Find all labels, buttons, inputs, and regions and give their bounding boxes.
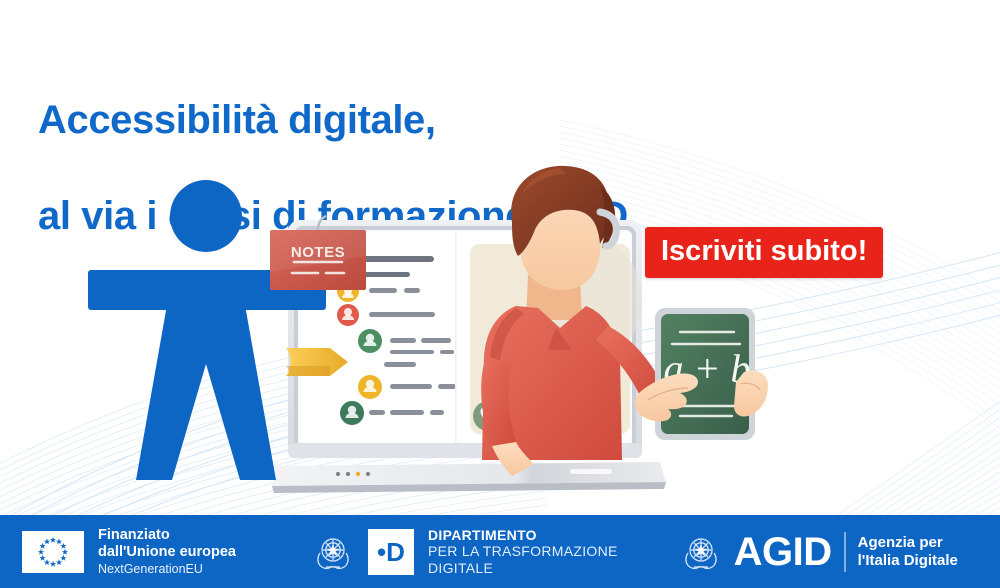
footer-dip-line-2: PER LA TRASFORMAZIONE xyxy=(428,543,618,560)
dipartimento-badge-icon: •D xyxy=(368,529,414,575)
eu-flag-icon xyxy=(22,531,84,573)
illustration: a + b NOTES xyxy=(0,160,1000,520)
notes-card-title: NOTES xyxy=(291,244,345,261)
banner-root: Accessibilità digitale, al via i corsi d… xyxy=(0,0,1000,588)
footer-eu-block: Finanziato dall'Unione europea NextGener… xyxy=(0,515,236,588)
footer-eu-line-1: Finanziato xyxy=(98,527,236,543)
footer-eu-line-3: NextGenerationEU xyxy=(98,562,236,576)
footer-dipartimento-block: •D DIPARTIMENTO PER LA TRASFORMAZIONE DI… xyxy=(236,515,618,588)
chalkboard-tablet: a + b xyxy=(655,308,755,440)
agid-subtitle-line-2: l'Italia Digitale xyxy=(858,552,958,570)
footer-eu-line-2: dall'Unione europea xyxy=(98,544,236,560)
agid-wordmark: AGID xyxy=(734,532,832,572)
agid-divider xyxy=(844,532,846,572)
agid-emblem-icon xyxy=(680,531,722,573)
footer-dip-line-1: DIPARTIMENTO xyxy=(428,527,618,544)
page-title-line-1: Accessibilità digitale, xyxy=(38,96,798,144)
footer-dipartimento-text: DIPARTIMENTO PER LA TRASFORMAZIONE DIGIT… xyxy=(428,527,618,577)
footer-bar: Finanziato dall'Unione europea NextGener… xyxy=(0,515,1000,588)
footer-eu-text: Finanziato dall'Unione europea NextGener… xyxy=(98,527,236,575)
dipartimento-badge-letter: •D xyxy=(377,539,405,565)
agid-subtitle: Agenzia per l'Italia Digitale xyxy=(858,534,958,570)
italian-republic-emblem-icon xyxy=(312,531,354,573)
footer-agid-block: AGID Agenzia per l'Italia Digitale xyxy=(618,515,958,588)
signup-cta-button[interactable]: Iscriviti subito! xyxy=(645,227,883,278)
agid-subtitle-line-1: Agenzia per xyxy=(858,534,958,552)
footer-dip-line-3: DIGITALE xyxy=(428,560,618,577)
